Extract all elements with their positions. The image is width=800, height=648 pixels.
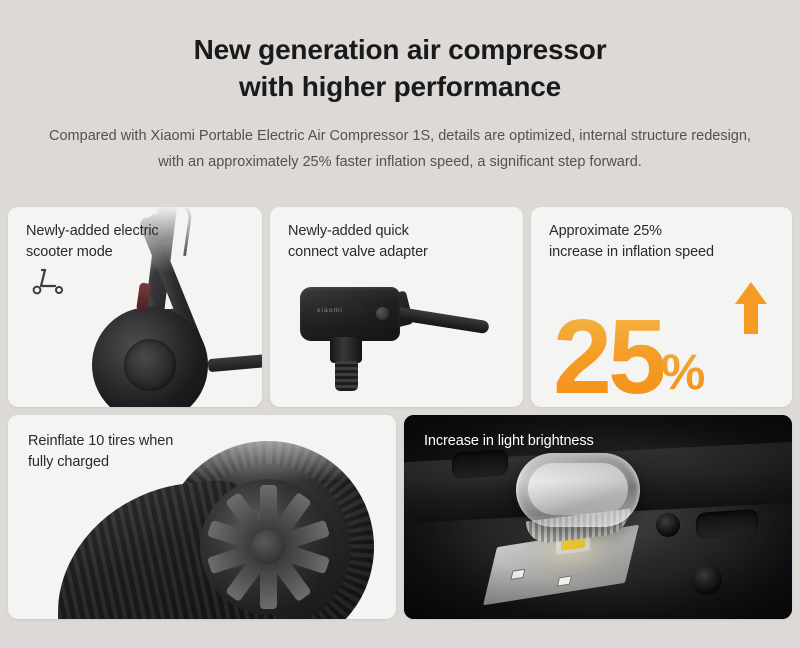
- up-arrow-icon: [732, 280, 770, 341]
- feature-row-bottom: Reinflate 10 tires when fully charged: [8, 415, 792, 619]
- stat-percent-sign: %: [661, 347, 705, 397]
- housing-hole: [656, 513, 680, 537]
- card-light-brightness[interactable]: Increase in light brightness: [404, 415, 792, 619]
- headline-line-1: New generation air compressor: [0, 32, 800, 69]
- adapter-lever: [385, 305, 490, 334]
- card-quick-connect-valve-adapter[interactable]: xiaomi Newly-added quick connect valve a…: [270, 207, 523, 407]
- scooter-wheel-hub: [124, 339, 176, 391]
- card-title: Newly-added electric scooter mode: [26, 221, 159, 263]
- feature-card-grid: Newly-added electric scooter mode xiaomi: [8, 207, 792, 619]
- page-title: New generation air compressor with highe…: [0, 32, 800, 106]
- valve-adapter-photo: xiaomi: [300, 287, 500, 397]
- page-header: New generation air compressor with highe…: [0, 0, 800, 176]
- card-title: Reinflate 10 tires when fully charged: [28, 431, 173, 473]
- card-inflation-speed-increase[interactable]: Approximate 25% increase in inflation sp…: [531, 207, 792, 407]
- feature-row-top: Newly-added electric scooter mode xiaomi: [8, 207, 792, 407]
- scooter-icon: [30, 267, 74, 302]
- card-title: Increase in light brightness: [424, 431, 594, 452]
- housing-slot: [696, 509, 758, 539]
- page-subtitle: Compared with Xiaomi Portable Electric A…: [0, 124, 800, 176]
- adapter-threaded-tip: [335, 361, 358, 391]
- adapter-button: [376, 307, 389, 320]
- card-electric-scooter-mode[interactable]: Newly-added electric scooter mode: [8, 207, 262, 407]
- card-reinflate-tires[interactable]: Reinflate 10 tires when fully charged: [8, 415, 396, 619]
- adapter-neck: [330, 337, 362, 363]
- wheel-rim: [200, 479, 336, 615]
- wheel-hub: [251, 530, 285, 564]
- housing-hole: [692, 565, 722, 595]
- card-title: Newly-added quick connect valve adapter: [288, 221, 428, 263]
- stat-number: 25: [553, 312, 663, 403]
- scooter-deck: [208, 353, 262, 372]
- xiaomi-logo-text: xiaomi: [317, 307, 343, 314]
- headline-line-2: with higher performance: [0, 69, 800, 106]
- stat-display: 25 %: [553, 312, 705, 403]
- card-title: Approximate 25% increase in inflation sp…: [549, 221, 714, 263]
